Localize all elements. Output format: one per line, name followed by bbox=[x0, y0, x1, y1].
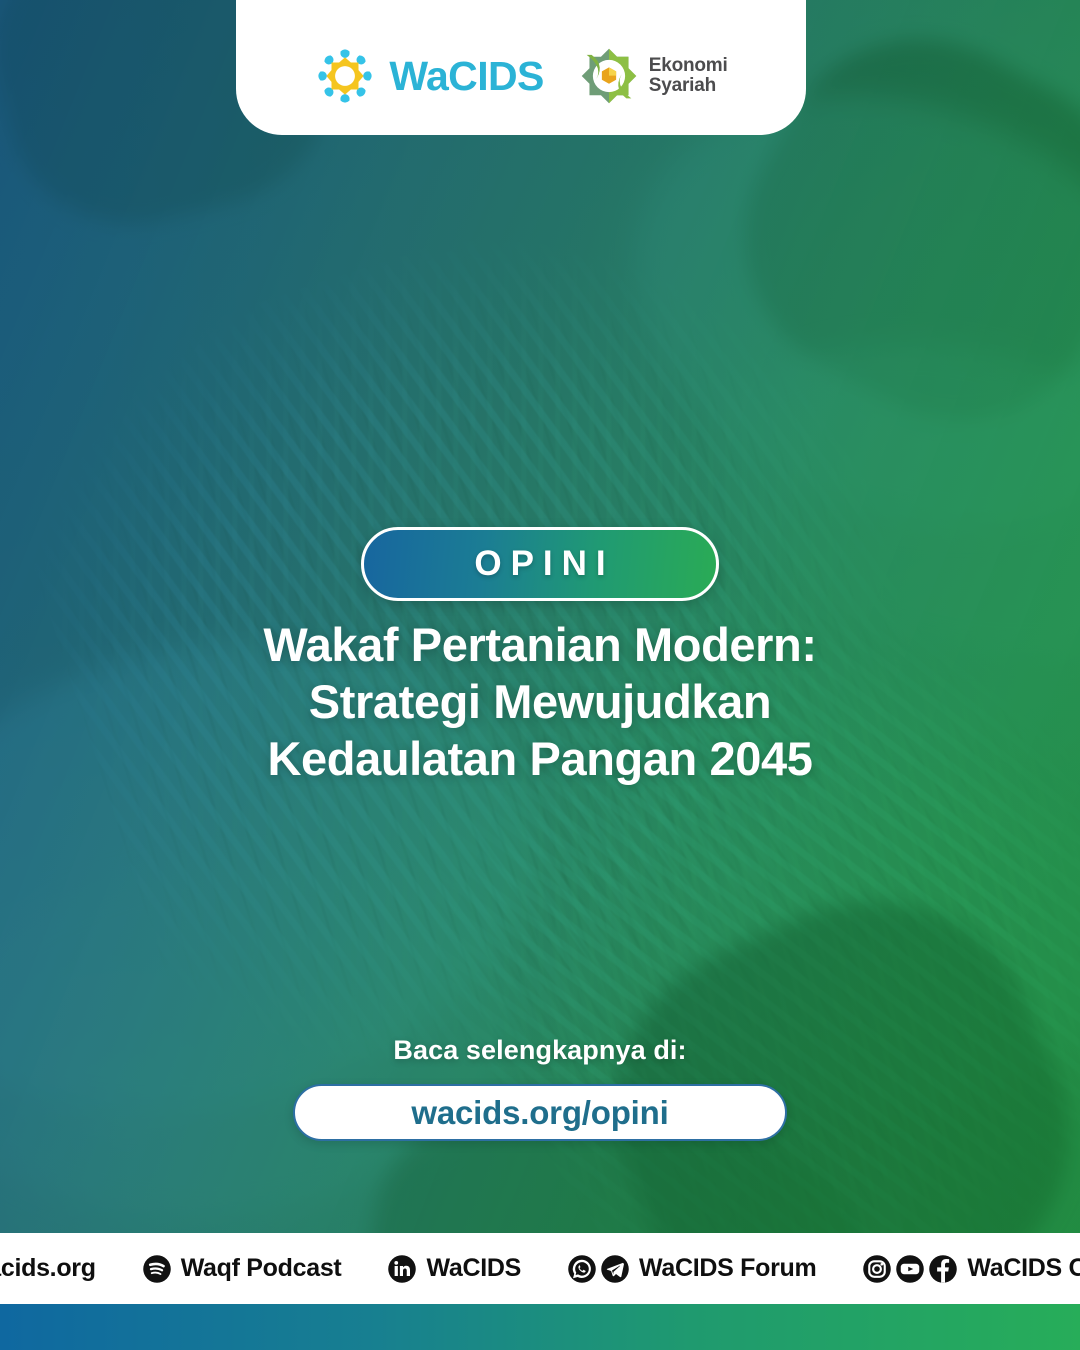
spotify-icon bbox=[142, 1254, 172, 1284]
footer-label-podcast: Waqf Podcast bbox=[181, 1254, 342, 1283]
cta-url-text: wacids.org/opini bbox=[411, 1094, 668, 1132]
wacids-wordmark: WaCIDS bbox=[389, 56, 543, 97]
facebook-icon bbox=[928, 1254, 958, 1284]
ekonomi-syariah-star-icon bbox=[578, 45, 640, 107]
footer-item-linkedin[interactable]: WaCIDS bbox=[364, 1254, 544, 1284]
page-title: Wakaf Pertanian Modern: Strategi Mewujud… bbox=[100, 617, 980, 788]
footer-label-forum: WaCIDS Forum bbox=[639, 1254, 816, 1283]
es-line-1: Ekonomi bbox=[649, 56, 728, 76]
footer-item-official[interactable]: WaCIDS Official bbox=[839, 1254, 1080, 1284]
footer-item-website[interactable]: wacids.org bbox=[0, 1254, 119, 1284]
footer-item-podcast[interactable]: Waqf Podcast bbox=[119, 1254, 365, 1284]
bottom-gradient-bar bbox=[0, 1304, 1080, 1350]
headline-line-3: Kedaulatan Pangan 2045 bbox=[100, 731, 980, 788]
ekonomi-syariah-wordmark: Ekonomi Syariah bbox=[649, 56, 728, 96]
cta-label: Baca selengkapnya di: bbox=[393, 1035, 686, 1066]
cta-url-button[interactable]: wacids.org/opini bbox=[293, 1084, 787, 1141]
instagram-icon bbox=[862, 1254, 892, 1284]
telegram-icon bbox=[600, 1254, 630, 1284]
headline-line-2: Strategi Mewujudkan bbox=[100, 674, 980, 731]
badge-label: OPINI bbox=[465, 544, 614, 584]
youtube-icon bbox=[895, 1254, 925, 1284]
whatsapp-icon bbox=[567, 1254, 597, 1284]
wacids-logo[interactable]: WaCIDS bbox=[314, 45, 543, 107]
es-line-2: Syariah bbox=[649, 76, 728, 96]
footer-label-official: WaCIDS Official bbox=[967, 1254, 1080, 1283]
ekonomi-syariah-logo[interactable]: Ekonomi Syariah bbox=[578, 45, 728, 107]
header-logo-card: WaCIDS Ekonomi Syariah bbox=[236, 0, 806, 135]
logo-row: WaCIDS Ekonomi Syariah bbox=[314, 45, 727, 107]
wacids-sun-icon bbox=[314, 45, 376, 107]
headline-line-1: Wakaf Pertanian Modern: bbox=[100, 617, 980, 674]
category-badge-opini: OPINI bbox=[361, 527, 719, 601]
footer-label-website: wacids.org bbox=[0, 1254, 96, 1283]
footer-item-forum[interactable]: WaCIDS Forum bbox=[544, 1254, 839, 1284]
poster-canvas: WaCIDS Ekonomi Syariah bbox=[0, 0, 1080, 1350]
social-footer: wacids.org Waqf Podcast bbox=[0, 1233, 1080, 1304]
footer-label-linkedin: WaCIDS bbox=[426, 1254, 521, 1283]
linkedin-icon bbox=[387, 1254, 417, 1284]
